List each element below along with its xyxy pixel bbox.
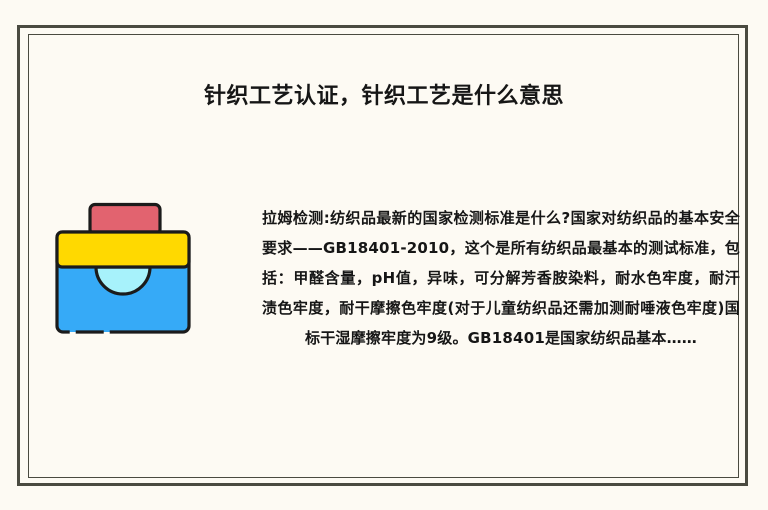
illustration-top-tab: [90, 205, 160, 235]
article-body-text: 拉姆检测:纺织品最新的国家检测标准是什么?国家对纺织品的基本安全要求——GB18…: [262, 203, 740, 353]
page-root: 针织工艺认证，针织工艺是什么意思 拉姆检测:纺织品最新的国家检测标准是什么?国家…: [0, 0, 768, 510]
briefcase-box-illustration: [54, 200, 192, 338]
page-title: 针织工艺认证，针织工艺是什么意思: [0, 78, 768, 110]
illustration-band: [57, 232, 189, 267]
